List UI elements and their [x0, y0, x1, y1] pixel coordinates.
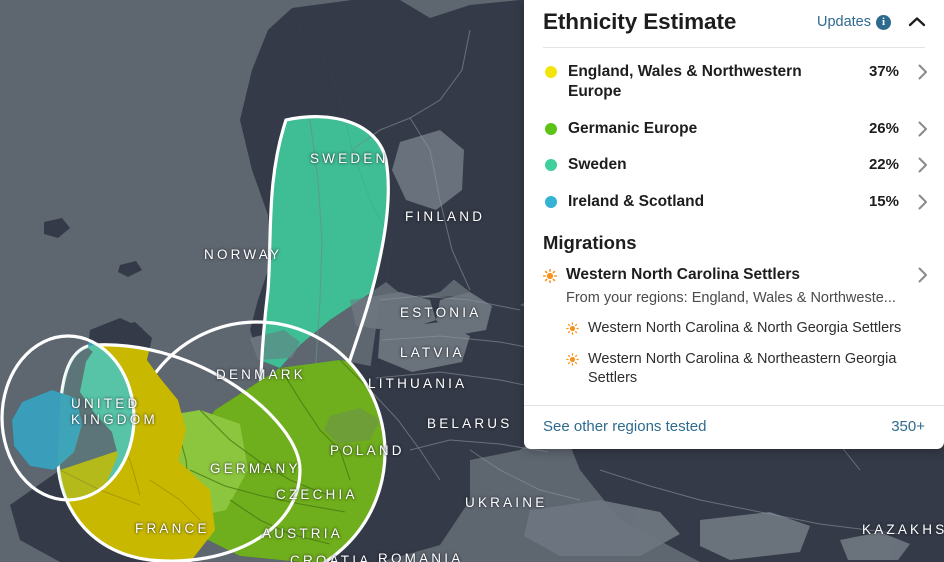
ethnicity-label: Germanic Europe	[568, 119, 858, 139]
sunburst-icon	[566, 353, 579, 371]
migration-child-label: Western North Carolina & North Georgia S…	[588, 319, 922, 338]
regions-tested-count: 350+	[891, 418, 925, 435]
migration-primary-label: Western North Carolina Settlers	[566, 265, 901, 284]
ethnicity-estimate-panel: Ethnicity Estimate Updates i England, Wa…	[524, 0, 944, 449]
ethnicity-row-ireland-scotland[interactable]: Ireland & Scotland 15%	[524, 184, 944, 220]
ancestry-ethnicity-screen: SWEDEN NORWAY FINLAND ESTONIA LATVIA LIT…	[0, 0, 944, 562]
ethnicity-color-swatch	[545, 123, 557, 135]
ethnicity-row-england-wales-nw-europe[interactable]: England, Wales & Northwestern Europe 37%	[524, 54, 944, 111]
migration-primary-subtitle: From your regions: England, Wales & Nort…	[524, 288, 944, 309]
ethnicity-color-swatch	[545, 196, 557, 208]
ethnicity-row-sweden[interactable]: Sweden 22%	[524, 147, 944, 183]
panel-header: Ethnicity Estimate Updates i	[524, 0, 944, 47]
migrations-heading: Migrations	[524, 222, 944, 263]
updates-link[interactable]: Updates i	[817, 14, 891, 30]
ethnicity-row-germanic-europe[interactable]: Germanic Europe 26%	[524, 111, 944, 147]
sunburst-icon	[566, 322, 579, 340]
info-icon[interactable]: i	[876, 15, 891, 30]
ethnicity-percent: 15%	[869, 193, 899, 210]
ethnicity-percent: 37%	[869, 63, 899, 80]
chevron-right-icon[interactable]	[910, 64, 928, 80]
ethnicity-color-swatch	[545, 159, 557, 171]
ethnicity-list: England, Wales & Northwestern Europe 37%…	[524, 48, 944, 222]
migration-child-row-2[interactable]: Western North Carolina & Northeastern Ge…	[524, 340, 944, 389]
updates-label: Updates	[817, 14, 871, 30]
ethnicity-percent: 26%	[869, 120, 899, 137]
sunburst-icon	[543, 269, 557, 288]
chevron-right-icon[interactable]	[910, 121, 928, 137]
collapse-panel-button[interactable]	[908, 16, 926, 28]
ethnicity-percent: 22%	[869, 156, 899, 173]
page-title: Ethnicity Estimate	[543, 10, 809, 35]
chevron-up-icon	[908, 16, 926, 28]
chevron-right-icon[interactable]	[910, 267, 928, 283]
migration-child-label: Western North Carolina & Northeastern Ge…	[588, 350, 922, 389]
ethnicity-label: Sweden	[568, 155, 858, 175]
migration-primary-row[interactable]: Western North Carolina Settlers	[524, 263, 944, 288]
chevron-right-icon[interactable]	[910, 157, 928, 173]
panel-footer: See other regions tested 350+	[524, 405, 944, 449]
chevron-right-icon[interactable]	[910, 194, 928, 210]
ethnicity-color-swatch	[545, 66, 557, 78]
see-other-regions-link[interactable]: See other regions tested	[543, 418, 706, 435]
migration-child-row-1[interactable]: Western North Carolina & North Georgia S…	[524, 309, 944, 340]
ethnicity-label: Ireland & Scotland	[568, 192, 858, 212]
ethnicity-label: England, Wales & Northwestern Europe	[568, 62, 858, 103]
